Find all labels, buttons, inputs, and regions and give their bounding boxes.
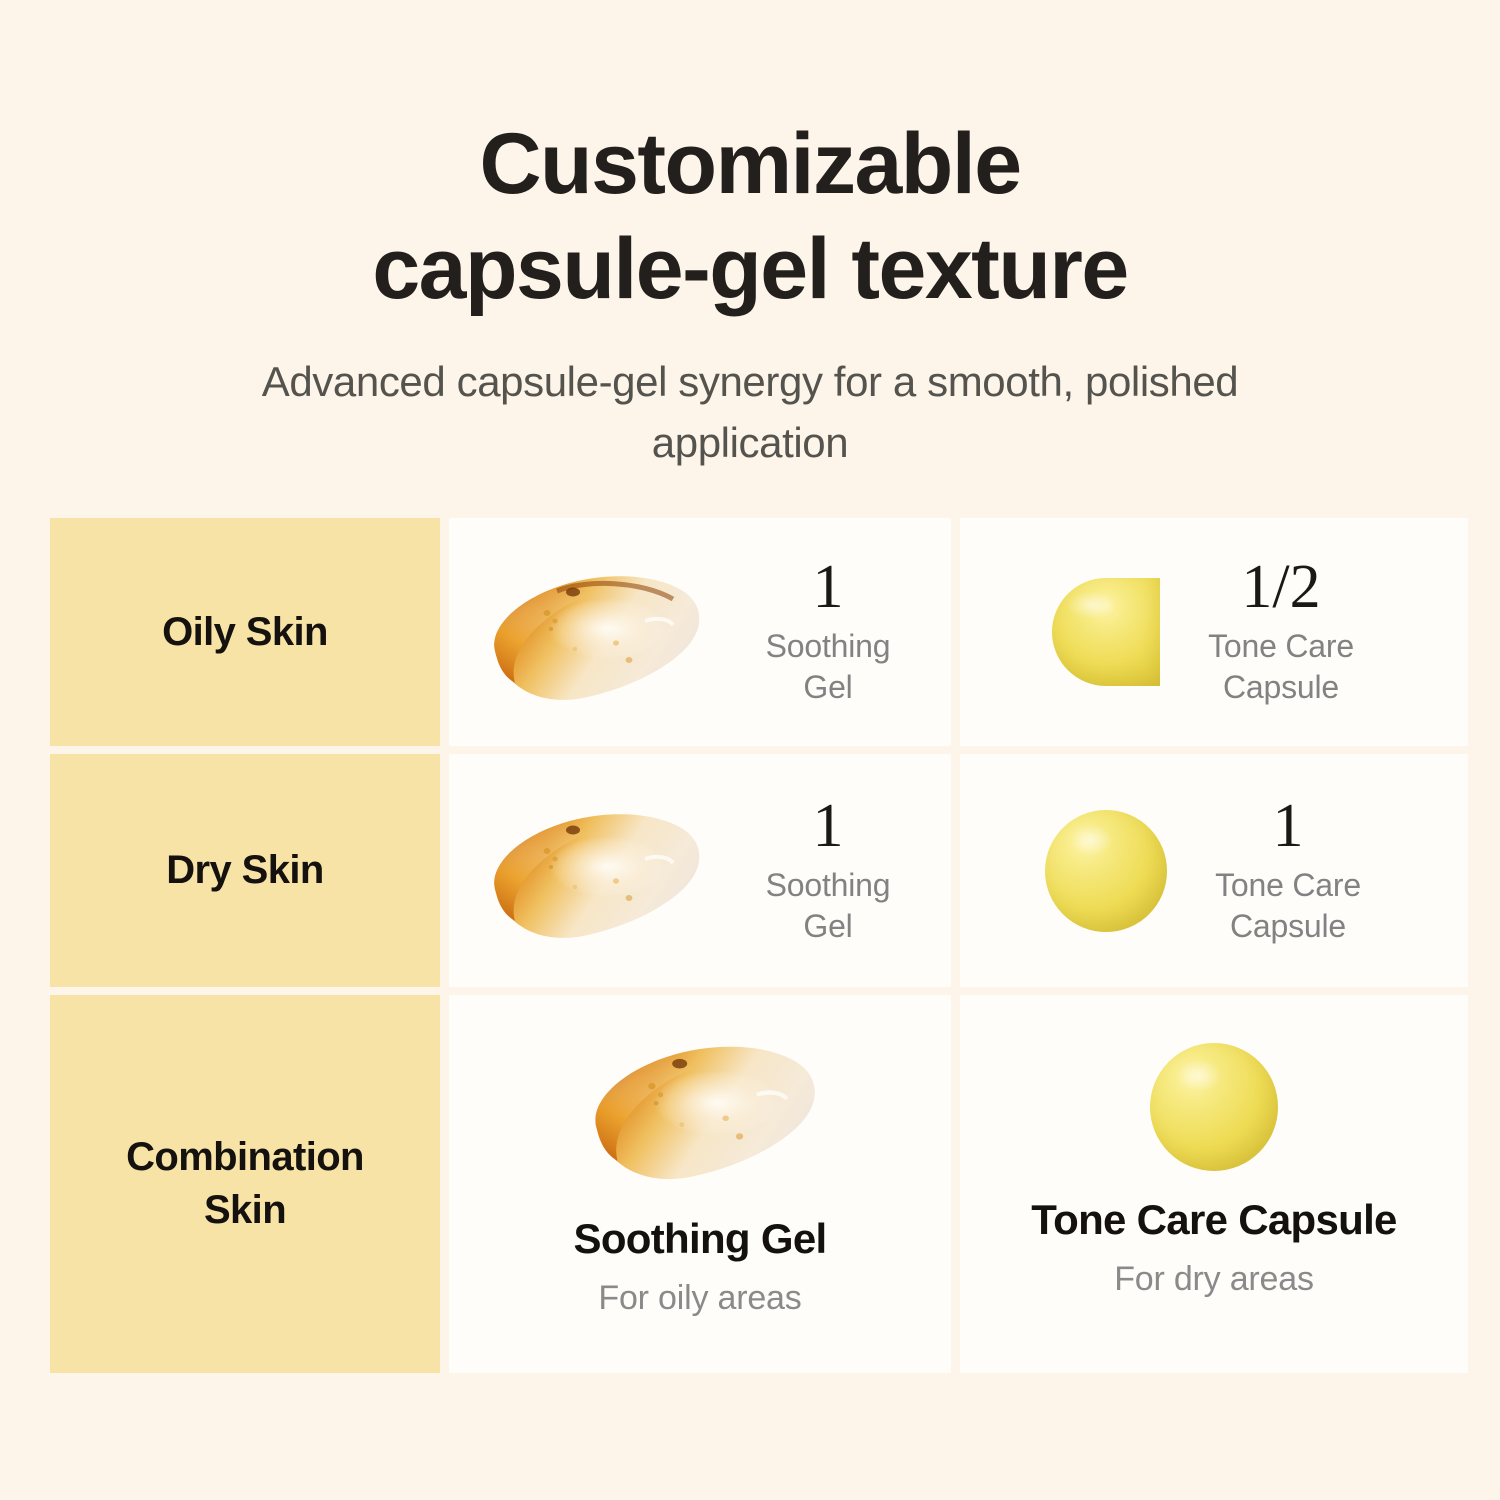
- table-row-label-oily-skin: Oily Skin: [50, 518, 440, 746]
- table-cell-capsule-dry-skin: 1 Tone Care Capsule: [960, 754, 1468, 987]
- table-cell-gel-combination-skin: Soothing Gel For oily areas: [449, 995, 951, 1373]
- gel-blob-icon: [477, 555, 707, 710]
- table-cell-capsule-oily-skin: 1/2 Tone Care Capsule: [960, 518, 1468, 746]
- usage-guide-table: Oily Skin: [50, 518, 1450, 1371]
- capsule-quantity-label: Tone Care Capsule: [1193, 865, 1383, 947]
- page-subtitle: Advanced capsule-gel synergy for a smoot…: [250, 352, 1250, 474]
- half-capsule-icon: [1052, 578, 1160, 686]
- table-row-label-dry-skin: Dry Skin: [50, 754, 440, 987]
- capsule-quantity: 1/2: [1186, 556, 1376, 618]
- gel-blob-icon: [577, 1024, 823, 1190]
- page-title-line-1: Customizable: [479, 116, 1020, 212]
- gel-title: Soothing Gel: [574, 1216, 827, 1262]
- table-cell-capsule-combination-skin: Tone Care Capsule For dry areas: [960, 995, 1468, 1373]
- gel-quantity: 1: [733, 556, 923, 618]
- skin-type-label: Combination Skin: [102, 1131, 388, 1237]
- gel-quantity: 1: [733, 795, 923, 857]
- capsule-subtitle: For dry areas: [1114, 1260, 1314, 1299]
- gel-quantity-label: Soothing Gel: [733, 865, 923, 947]
- skin-type-label: Oily Skin: [138, 606, 352, 659]
- full-capsule-icon: [1045, 810, 1167, 932]
- table-cell-gel-oily-skin: 1 Soothing Gel: [449, 518, 951, 746]
- full-capsule-icon: [1150, 1043, 1278, 1171]
- page-title: Customizable capsule-gel texture: [330, 112, 1170, 322]
- capsule-title: Tone Care Capsule: [1031, 1197, 1396, 1243]
- capsule-quantity-label: Tone Care Capsule: [1186, 626, 1376, 708]
- page-header: Customizable capsule-gel texture Advance…: [0, 0, 1500, 474]
- capsule-quantity: 1: [1193, 795, 1383, 857]
- gel-quantity-label: Soothing Gel: [733, 626, 923, 708]
- page-title-line-2: capsule-gel texture: [372, 221, 1127, 317]
- gel-blob-icon: [477, 793, 707, 948]
- table-row-label-combination-skin: Combination Skin: [50, 995, 440, 1373]
- table-cell-gel-dry-skin: 1 Soothing Gel: [449, 754, 951, 987]
- skin-type-label: Dry Skin: [142, 844, 348, 897]
- gel-subtitle: For oily areas: [598, 1279, 801, 1318]
